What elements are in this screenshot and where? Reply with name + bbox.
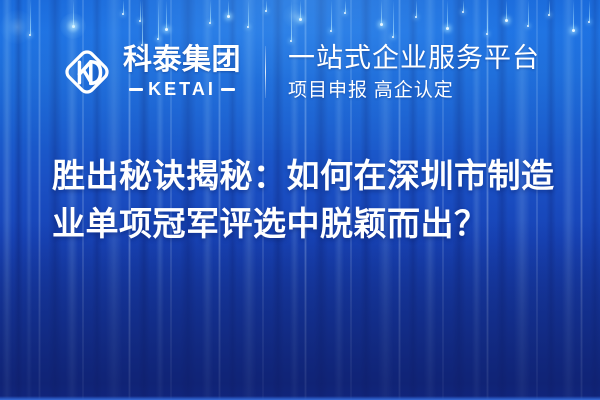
bottom-edge-glow: [0, 396, 600, 400]
header-divider: [265, 46, 266, 98]
promo-banner: 科泰集团 KETAI 一站式企业服务平台 项目申报 高企认定 胜出秘诀揭秘：如何…: [0, 0, 600, 400]
title-line-2: 业单项冠军评选中脱颖而出？: [52, 200, 560, 248]
tagline-block: 一站式企业服务平台 项目申报 高企认定: [288, 45, 540, 100]
wordmark-dash-right: [221, 88, 235, 91]
wordmark-dash-left: [129, 88, 143, 91]
tagline-main: 一站式企业服务平台: [288, 45, 540, 72]
title-line-1: 胜出秘诀揭秘：如何在深圳市制造: [52, 152, 560, 200]
brand-name-en-row: KETAI: [129, 80, 235, 98]
brand-wordmark: 科泰集团 KETAI: [123, 46, 241, 98]
brand-lockup: 科泰集团 KETAI: [60, 45, 241, 99]
ketai-diamond-kd-logo-icon: [60, 45, 114, 99]
banner-header: 科泰集团 KETAI 一站式企业服务平台 项目申报 高企认定: [0, 36, 600, 108]
brand-name-en: KETAI: [148, 80, 216, 98]
page-title: 胜出秘诀揭秘：如何在深圳市制造 业单项冠军评选中脱颖而出？: [52, 152, 560, 248]
tagline-sub: 项目申报 高企认定: [288, 81, 540, 100]
brand-name-cn: 科泰集团: [123, 46, 241, 75]
